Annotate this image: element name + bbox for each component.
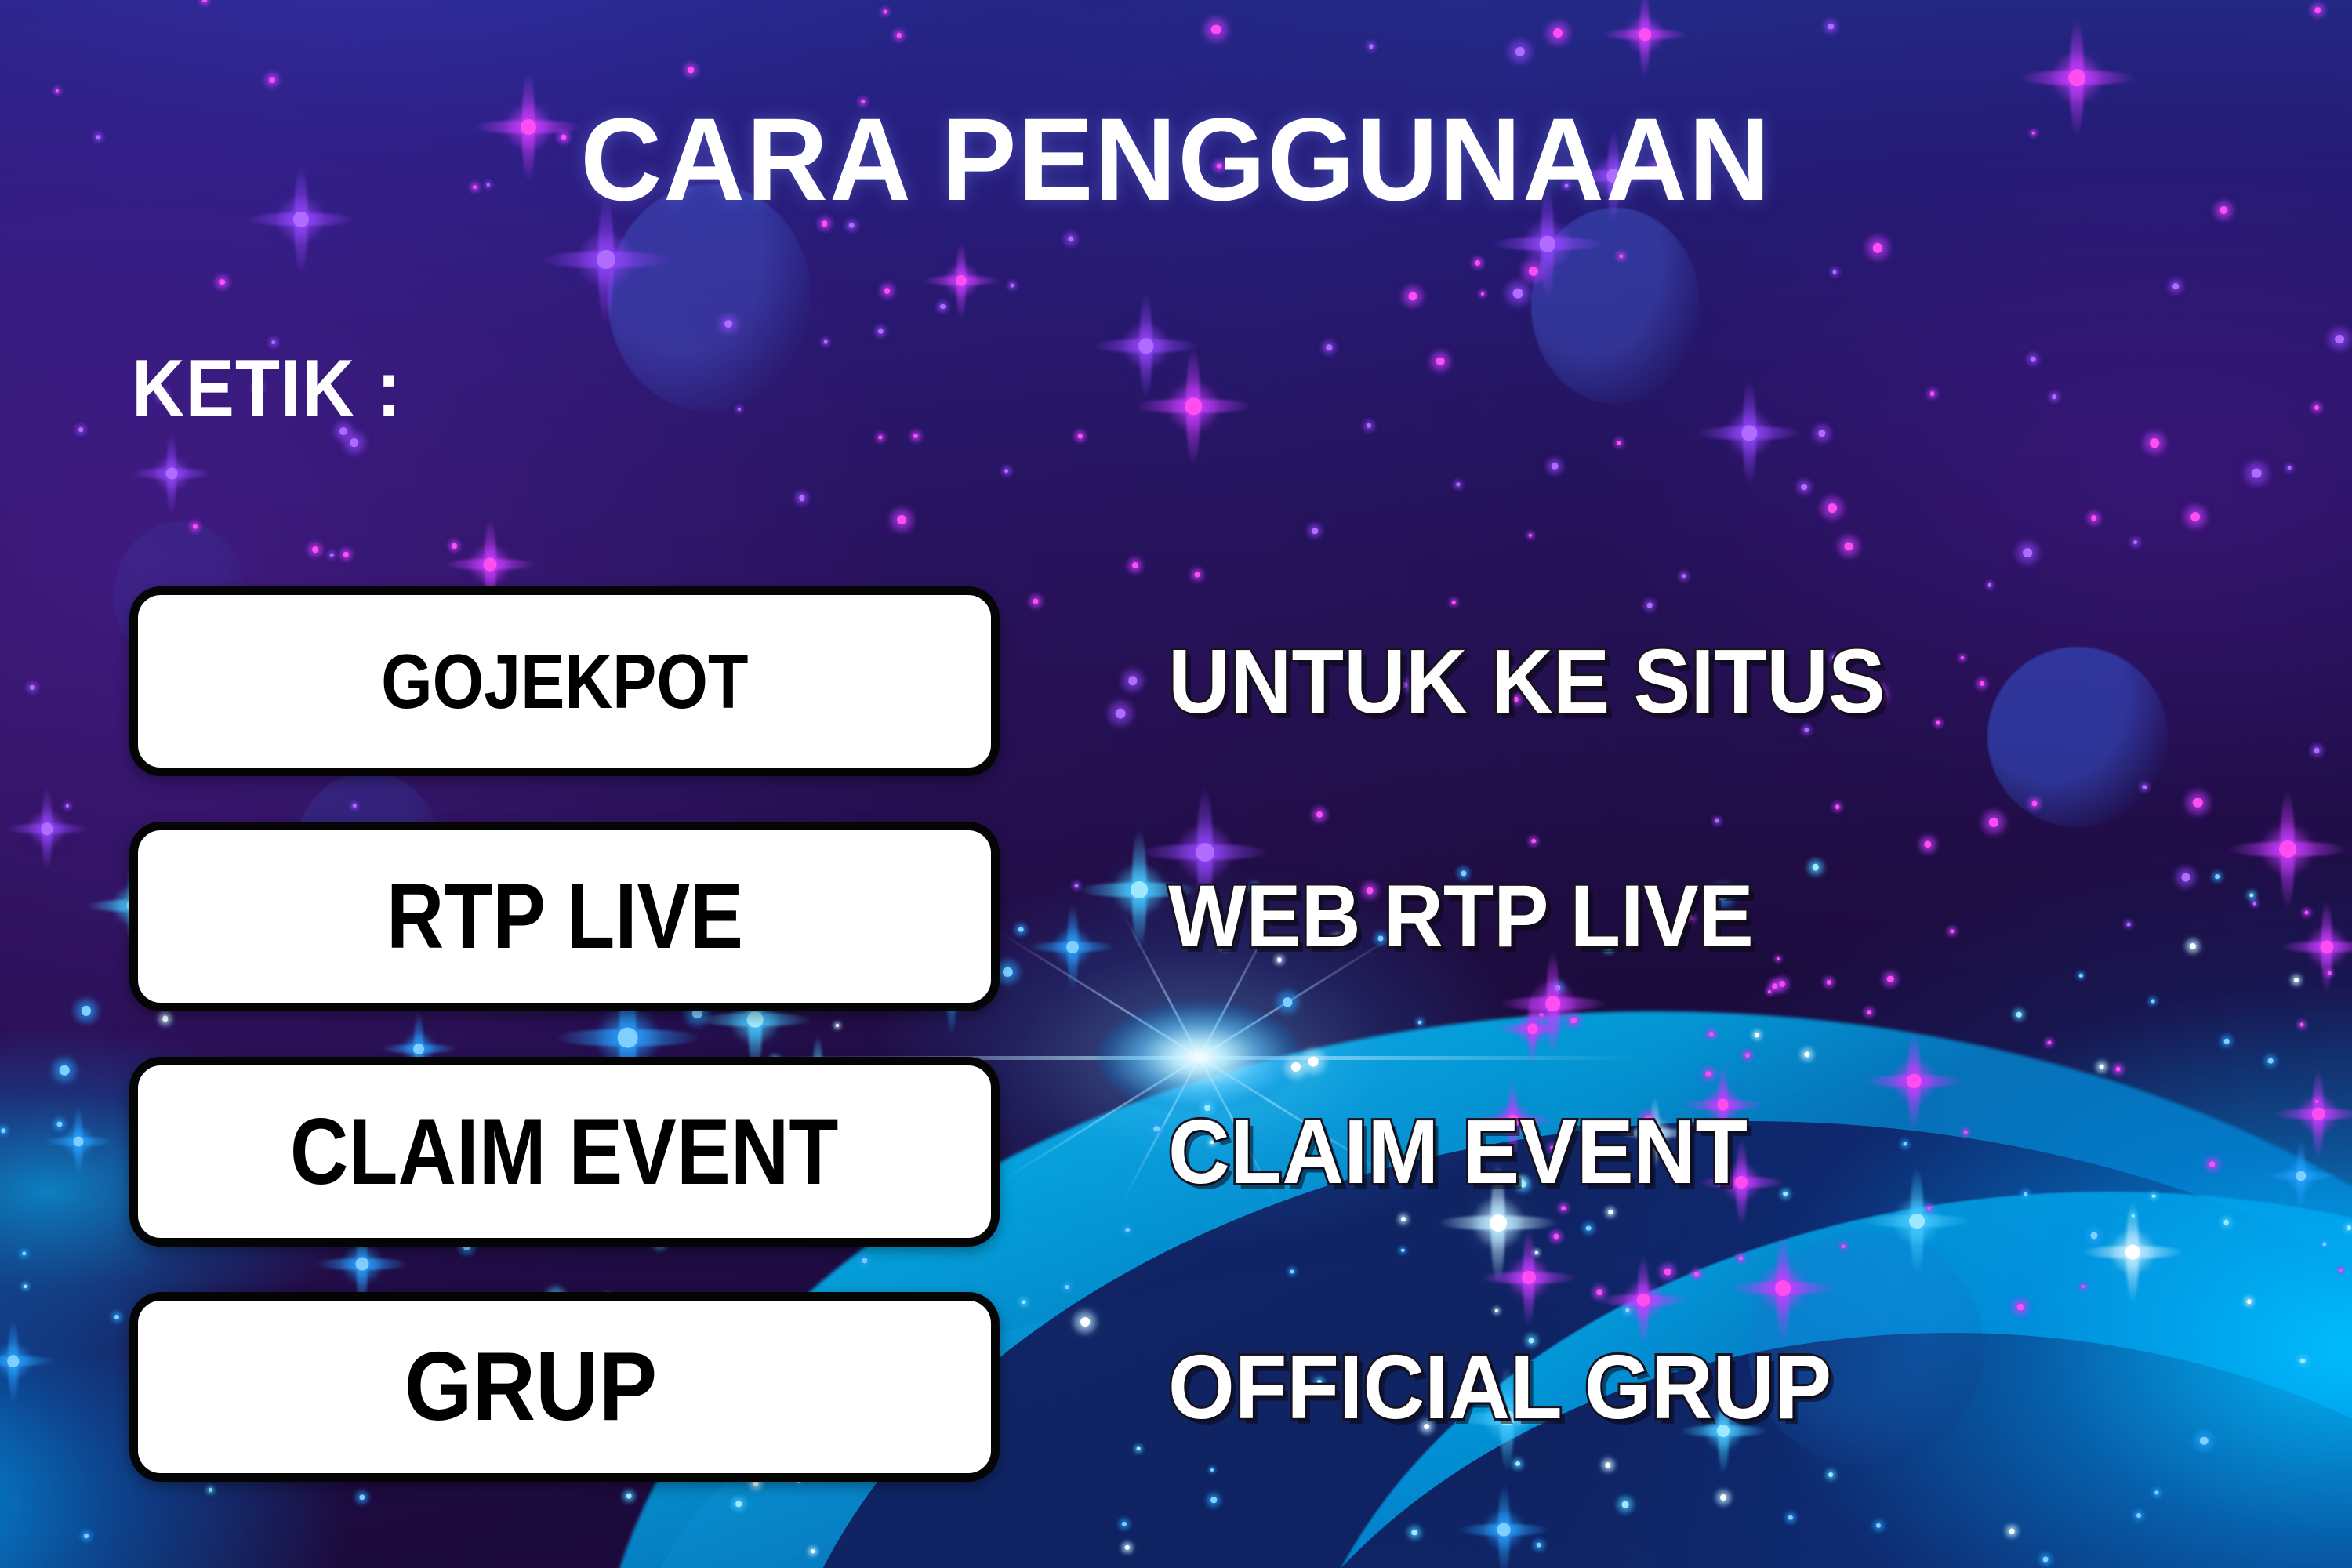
keyword-description-grup: OFFICIAL GRUP xyxy=(1168,1292,2170,1482)
keyword-description-rtp-live: WEB RTP LIVE xyxy=(1168,822,2170,1011)
keyword-button-label: GRUP xyxy=(405,1338,657,1436)
promo-banner: CARA PENGGUNAAN KETIK : GOJEKPOT UNTUK K… xyxy=(0,0,2352,1568)
keyword-button-grup[interactable]: GRUP xyxy=(129,1292,1000,1482)
command-row: RTP LIVE WEB RTP LIVE xyxy=(0,822,2352,1011)
keyword-description-gojekpot: UNTUK KE SITUS xyxy=(1168,586,2170,776)
command-list: GOJEKPOT UNTUK KE SITUS RTP LIVE WEB RTP… xyxy=(0,0,2352,1568)
keyword-button-label: CLAIM EVENT xyxy=(290,1105,838,1199)
command-row: CLAIM EVENT CLAIM EVENT xyxy=(0,1057,2352,1247)
command-row: GOJEKPOT UNTUK KE SITUS xyxy=(0,586,2352,776)
keyword-description-claim-event: CLAIM EVENT xyxy=(1168,1057,2170,1247)
keyword-button-label: RTP LIVE xyxy=(387,870,743,963)
keyword-button-claim-event[interactable]: CLAIM EVENT xyxy=(129,1057,1000,1247)
command-row: GRUP OFFICIAL GRUP xyxy=(0,1292,2352,1482)
keyword-button-label: GOJEKPOT xyxy=(381,643,748,720)
keyword-button-gojekpot[interactable]: GOJEKPOT xyxy=(129,586,1000,776)
keyword-button-rtp-live[interactable]: RTP LIVE xyxy=(129,822,1000,1011)
